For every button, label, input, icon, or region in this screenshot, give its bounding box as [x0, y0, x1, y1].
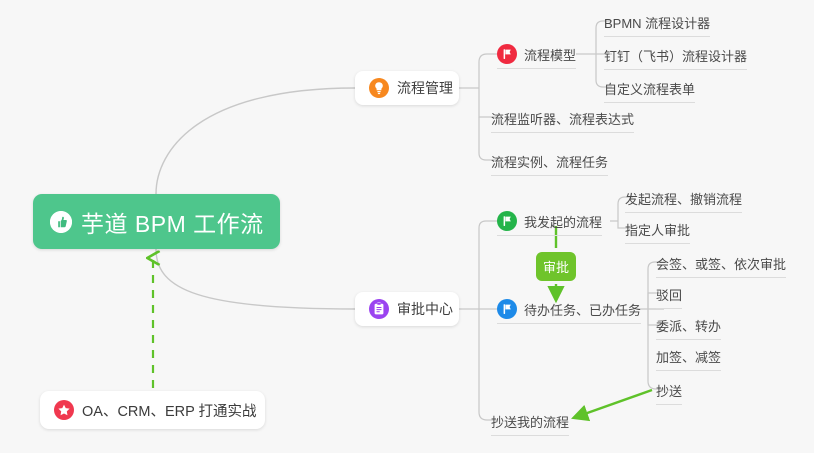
leaf-label-dingtalk-designer: 钉钉（飞书）流程设计器 [604, 46, 747, 65]
wire-approval-to-cc [479, 309, 497, 420]
leaf-bpmn-designer[interactable]: BPMN 流程设计器 [604, 10, 710, 34]
clipboard-icon [369, 299, 389, 319]
leaf-label-start-cancel-flow: 发起流程、撤销流程 [625, 189, 742, 208]
leaf-label-cc-to-me-flow: 抄送我的流程 [491, 412, 569, 431]
leaf-cc-to-me-flow[interactable]: 抄送我的流程 [491, 409, 569, 433]
branch-node-process-mgmt[interactable]: 流程管理 [355, 71, 459, 105]
leaf-todo-done-tasks[interactable]: 待办任务、已办任务 [497, 297, 641, 321]
thumbs-up-icon [50, 211, 72, 233]
leaf-label-delegate-transfer: 委派、转办 [656, 316, 721, 335]
integration-node-label: OA、CRM、ERP 打通实战 [82, 400, 257, 421]
leaf-label-carbon-copy: 抄送 [656, 381, 682, 400]
leaf-delegate-transfer[interactable]: 委派、转办 [656, 313, 721, 337]
approval-badge-label: 审批 [543, 257, 569, 276]
leaf-process-instance[interactable]: 流程实例、流程任务 [491, 149, 608, 173]
root-node[interactable]: 芋道 BPM 工作流 [33, 194, 280, 249]
leaf-label-bpmn-designer: BPMN 流程设计器 [604, 13, 710, 32]
leaf-carbon-copy[interactable]: 抄送 [656, 378, 682, 402]
wire-root-to-process-mgmt [156, 88, 355, 194]
leaf-process-listener[interactable]: 流程监听器、流程表达式 [491, 106, 634, 130]
leaf-dingtalk-designer[interactable]: 钉钉（飞书）流程设计器 [604, 43, 747, 67]
arrow-cc-to-ccmyflow [576, 390, 652, 417]
leaf-my-started-flow[interactable]: 我发起的流程 [497, 209, 602, 233]
leaf-label-process-model: 流程模型 [524, 45, 576, 64]
integration-node[interactable]: OA、CRM、ERP 打通实战 [40, 391, 265, 429]
leaf-add-remove-sign[interactable]: 加签、减签 [656, 344, 721, 368]
wire-root-to-approval [156, 249, 355, 309]
star-icon [54, 400, 74, 420]
root-label: 芋道 BPM 工作流 [81, 205, 264, 239]
branch-node-approval-center[interactable]: 审批中心 [355, 292, 459, 326]
flag-icon [497, 299, 517, 319]
leaf-process-model[interactable]: 流程模型 [497, 42, 576, 66]
leaf-label-add-remove-sign: 加签、减签 [656, 347, 721, 366]
branch-label-process-mgmt: 流程管理 [397, 78, 453, 98]
leaf-assignee-approval[interactable]: 指定人审批 [625, 217, 690, 241]
leaf-label-todo-done-tasks: 待办任务、已办任务 [524, 300, 641, 319]
leaf-start-cancel-flow[interactable]: 发起流程、撤销流程 [625, 186, 742, 210]
leaf-custom-form[interactable]: 自定义流程表单 [604, 76, 695, 100]
leaf-label-process-listener: 流程监听器、流程表达式 [491, 109, 634, 128]
flag-icon [497, 44, 517, 64]
mindmap-canvas: 芋道 BPM 工作流 流程管理 审批中心 [0, 0, 814, 453]
flag-icon [497, 211, 517, 231]
wire-approval-to-mystarted [479, 221, 497, 309]
leaf-label-reject: 驳回 [656, 285, 682, 304]
approval-badge[interactable]: 审批 [536, 252, 576, 281]
leaf-label-custom-form: 自定义流程表单 [604, 79, 695, 98]
leaf-label-my-started-flow: 我发起的流程 [524, 212, 602, 231]
leaf-label-assignee-approval: 指定人审批 [625, 220, 690, 239]
leaf-label-countersign-modes: 会签、或签、依次审批 [656, 254, 786, 273]
branch-label-approval-center: 审批中心 [397, 299, 453, 319]
lightbulb-icon [369, 78, 389, 98]
leaf-reject[interactable]: 驳回 [656, 282, 682, 306]
leaf-label-process-instance: 流程实例、流程任务 [491, 152, 608, 171]
leaf-countersign-modes[interactable]: 会签、或签、依次审批 [656, 251, 786, 275]
wire-process-mgmt-to-model [479, 54, 497, 88]
